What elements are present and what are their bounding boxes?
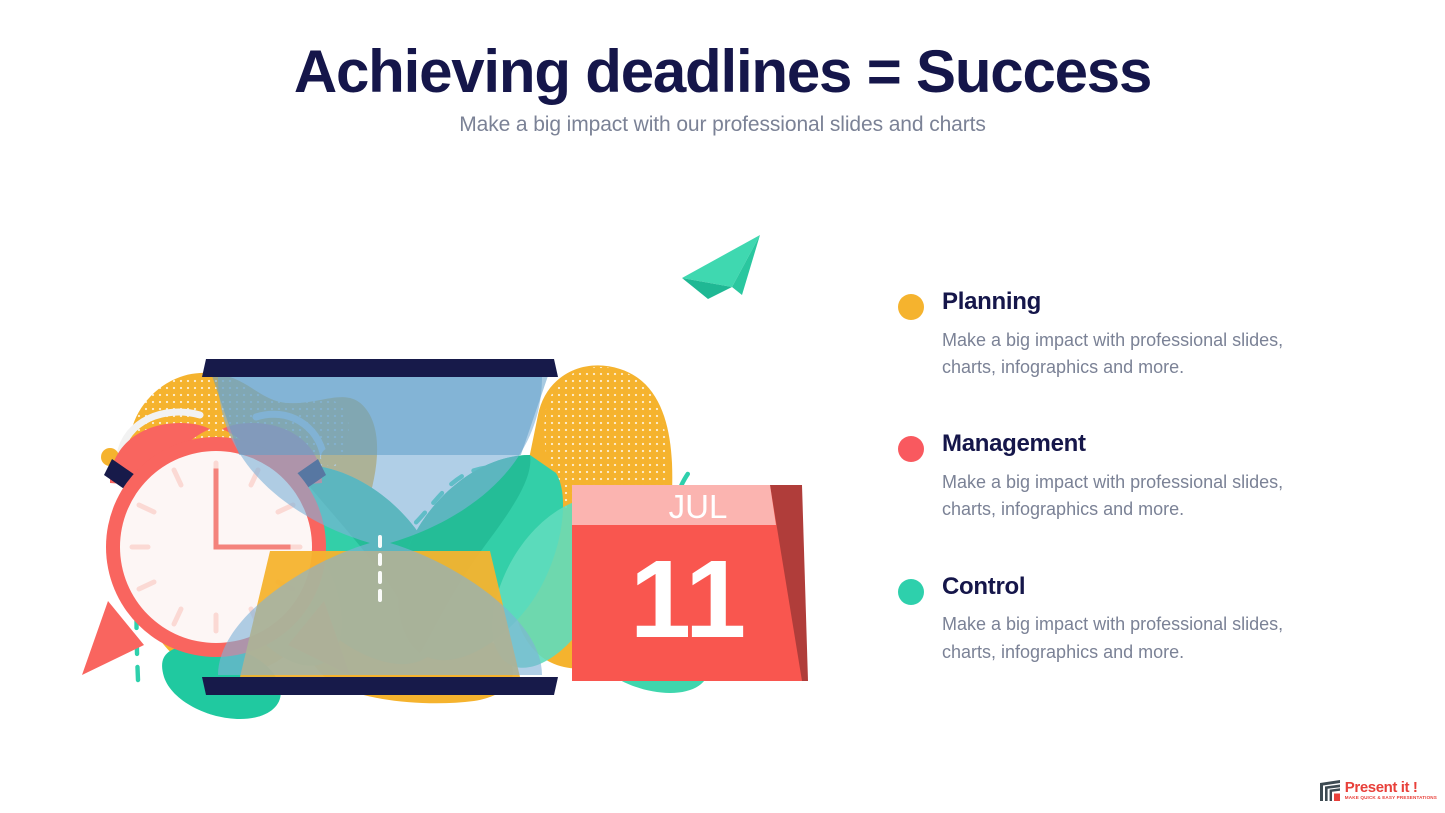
brand-logo[interactable]: Present it ! MAKE QUICK & EASY PRESENTAT… — [1319, 780, 1437, 801]
calendar-icon: JUL 11 — [572, 485, 808, 681]
deadline-illustration: JUL 11 — [60, 225, 850, 725]
presentit-mark-icon — [1319, 780, 1341, 801]
paper-plane-icon — [682, 235, 760, 299]
feature-description: Make a big impact with professional slid… — [942, 469, 1292, 524]
bullet-coral-icon — [898, 436, 924, 462]
feature-item-management[interactable]: Management Make a big impact with profes… — [898, 427, 1318, 523]
feature-list: Planning Make a big impact with professi… — [898, 285, 1318, 666]
slide-canvas: Achieving deadlines = Success Make a big… — [0, 0, 1445, 813]
feature-title: Control — [942, 570, 1318, 604]
bullet-amber-icon — [898, 294, 924, 320]
feature-description: Make a big impact with professional slid… — [942, 327, 1292, 382]
feature-title: Management — [942, 427, 1318, 461]
logo-wordmark: Present it ! — [1345, 780, 1437, 795]
page-subtitle: Make a big impact with our professional … — [0, 113, 1445, 137]
calendar-day: 11 — [630, 538, 746, 661]
logo-text-group: Present it ! MAKE QUICK & EASY PRESENTAT… — [1345, 780, 1437, 801]
page-title: Achieving deadlines = Success — [0, 40, 1445, 103]
feature-title: Planning — [942, 285, 1318, 319]
feature-item-control[interactable]: Control Make a big impact with professio… — [898, 570, 1318, 666]
feature-description: Make a big impact with professional slid… — [942, 611, 1292, 666]
logo-tagline: MAKE QUICK & EASY PRESENTATIONS — [1345, 796, 1437, 801]
feature-item-planning[interactable]: Planning Make a big impact with professi… — [898, 285, 1318, 381]
calendar-month: JUL — [669, 488, 728, 525]
bullet-mint-icon — [898, 579, 924, 605]
slide-header: Achieving deadlines = Success Make a big… — [0, 40, 1445, 137]
